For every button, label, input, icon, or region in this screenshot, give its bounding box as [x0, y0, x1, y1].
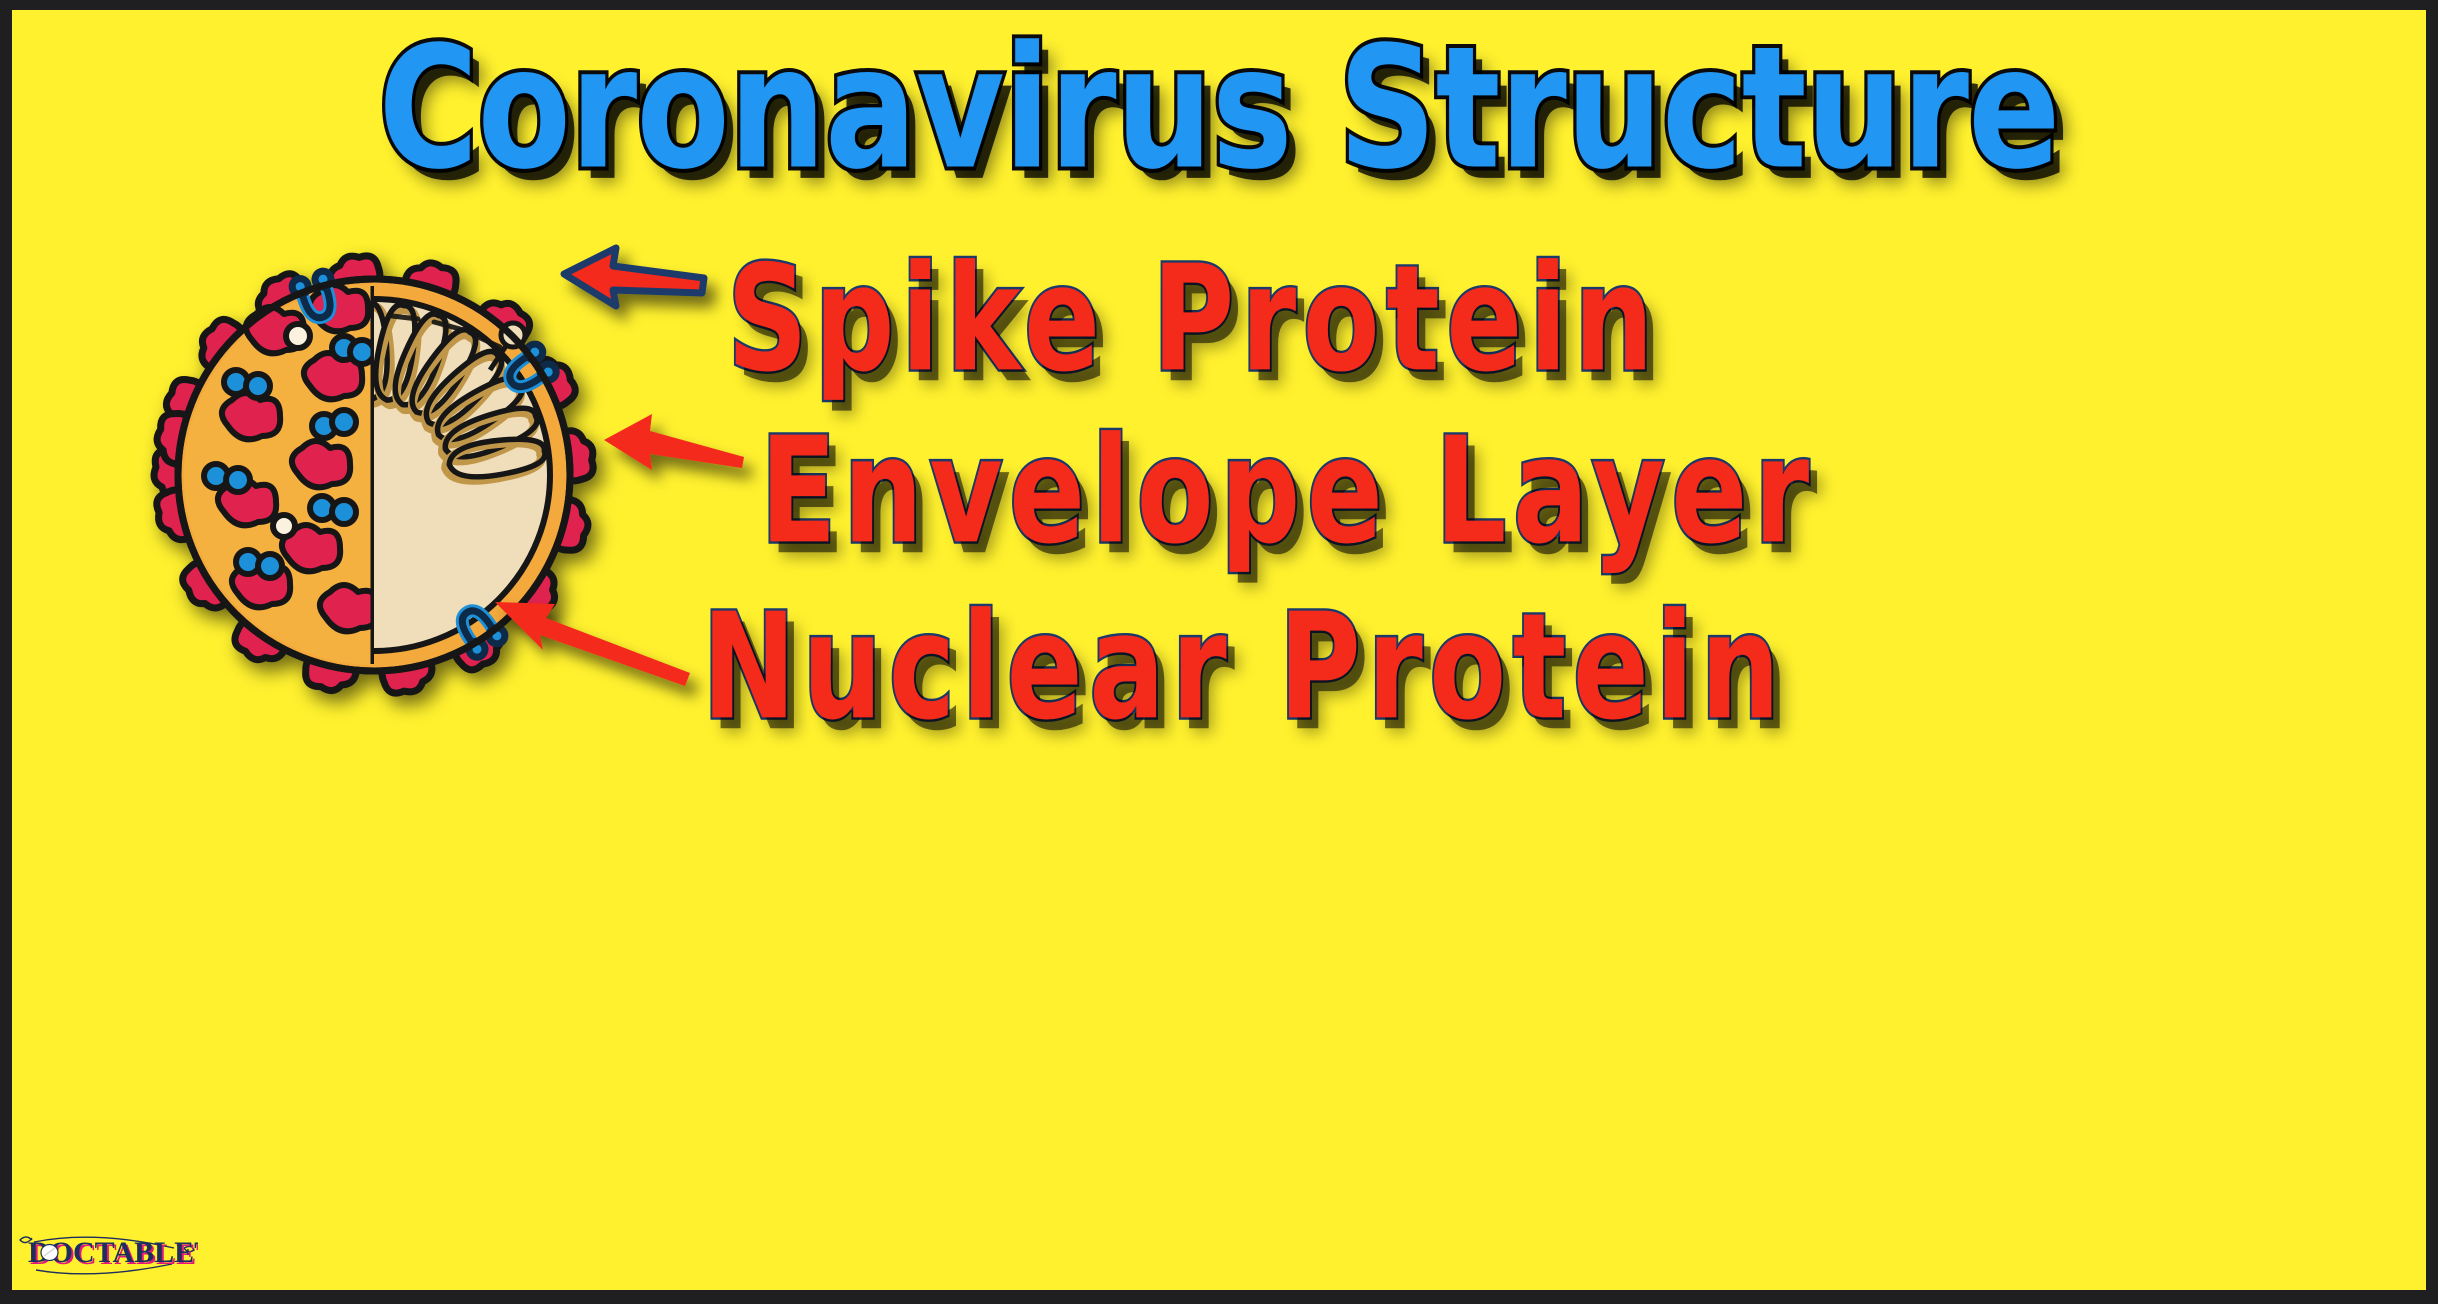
- label-nuclear-protein: Nuclear Protein: [702, 582, 1787, 752]
- label-spike-protein: Spike Protein: [727, 234, 1660, 404]
- label-envelope-layer: Envelope Layer: [760, 406, 1816, 576]
- coronavirus-diagram: [92, 190, 752, 750]
- doctablet-logo: DOCTABLET DOCTABLET: [18, 1226, 198, 1278]
- page-title: Coronavirus Structure: [109, 24, 2330, 193]
- poster-canvas: Coronavirus Structure: [12, 10, 2426, 1290]
- image-frame: Coronavirus Structure: [0, 0, 2438, 1304]
